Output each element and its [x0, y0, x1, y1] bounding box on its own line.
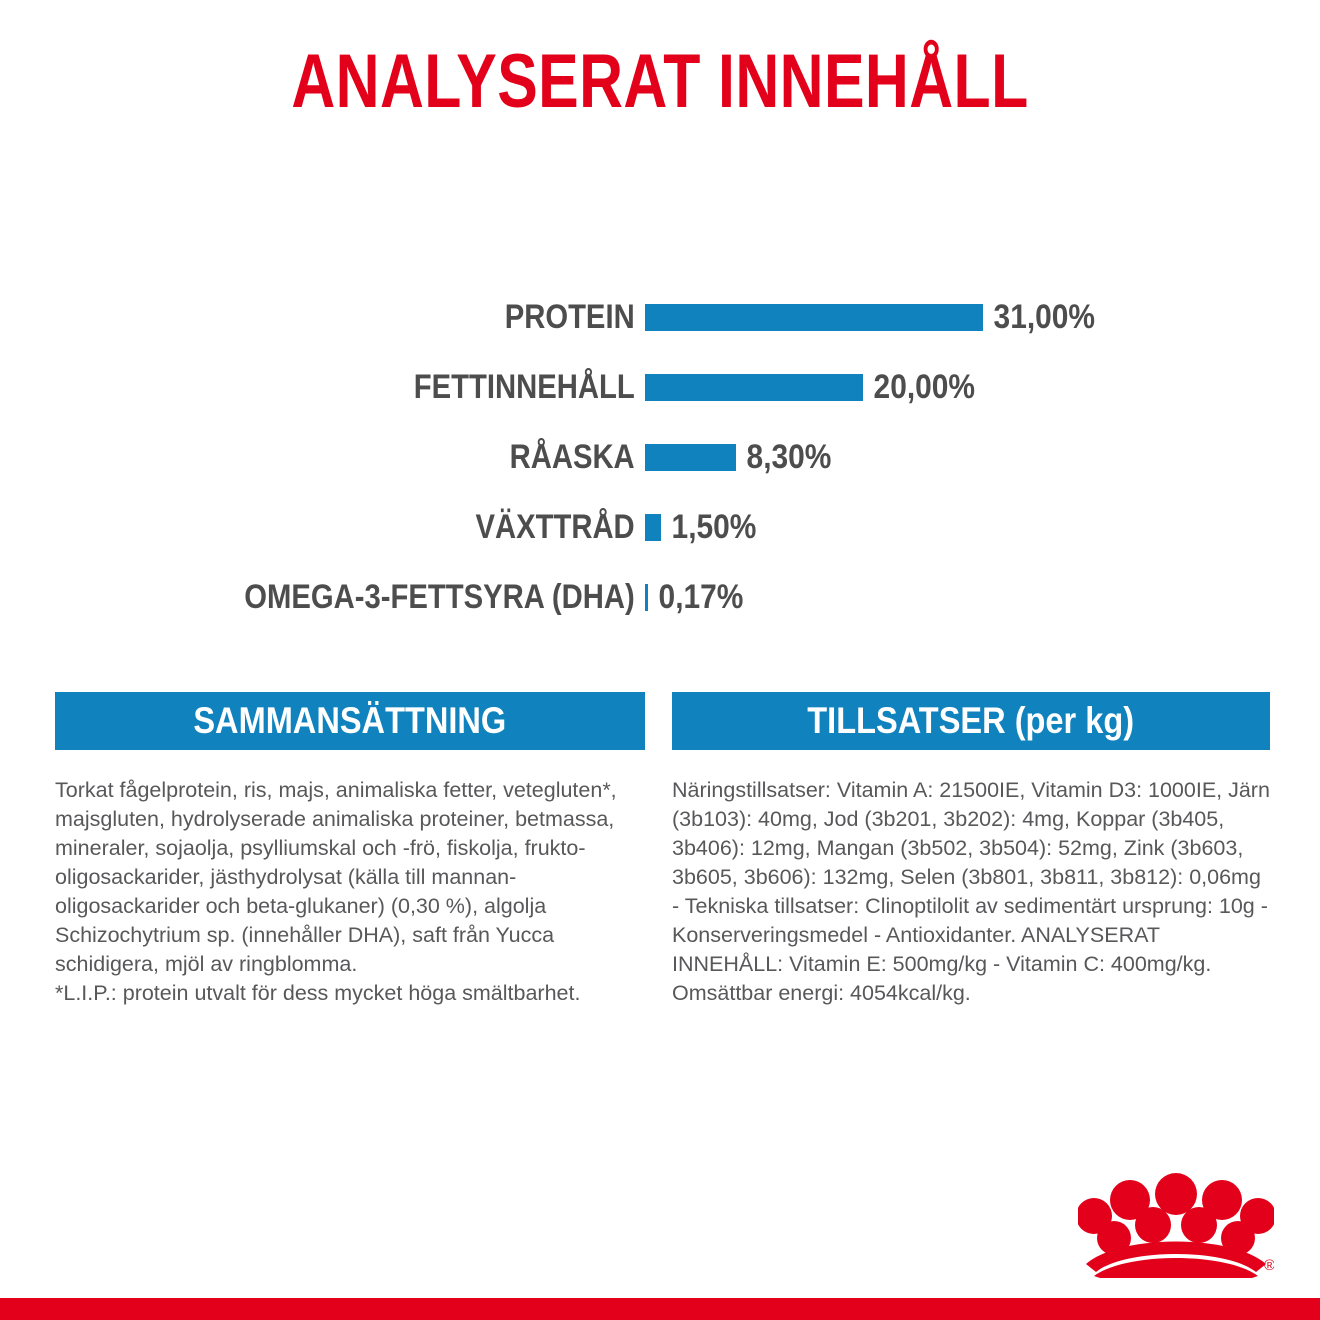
composition-panel-header: SAMMANSÄTTNING	[55, 692, 645, 750]
composition-text: Torkat fågelprotein, ris, majs, animalis…	[55, 776, 645, 979]
chart-bar-wrap: 1,50%	[645, 509, 1320, 545]
chart-row-label: VÄXTTRÅD	[90, 509, 645, 545]
composition-panel: SAMMANSÄTTNING Torkat fågelprotein, ris,…	[55, 692, 645, 1008]
chart-value-label: 20,00%	[863, 369, 975, 405]
additives-text: Näringstillsatser: Vitamin A: 21500IE, V…	[672, 776, 1270, 1008]
registered-trademark-mark: ®	[1264, 1257, 1274, 1274]
composition-panel-body: Torkat fågelprotein, ris, majs, animalis…	[55, 750, 645, 1008]
additives-panel: TILLSATSER (per kg) Näringstillsatser: V…	[672, 692, 1270, 1008]
nutrition-info-page: ANALYSERAT INNEHÅLL PROTEIN31,00%FETTINN…	[0, 0, 1320, 1320]
chart-bar-wrap: 20,00%	[645, 369, 1320, 405]
chart-row: RÅASKA8,30%	[0, 422, 1320, 492]
chart-value-label: 8,30%	[736, 439, 831, 475]
chart-row-label: OMEGA-3-FETTSYRA (DHA)	[90, 579, 645, 615]
chart-bar-wrap: 31,00%	[645, 299, 1320, 335]
composition-panel-header-label: SAMMANSÄTTNING	[194, 701, 507, 741]
chart-value-label: 0,17%	[648, 579, 743, 615]
chart-value-label: 31,00%	[983, 299, 1095, 335]
chart-row-label: FETTINNEHÅLL	[90, 369, 645, 405]
chart-value-label: 1,50%	[661, 509, 756, 545]
page-title: ANALYSERAT INNEHÅLL	[132, 40, 1188, 124]
composition-footnote: *L.I.P.: protein utvalt för dess mycket …	[55, 979, 645, 1008]
royal-canin-crown-logo: ®	[1078, 1172, 1274, 1278]
chart-row: PROTEIN31,00%	[0, 282, 1320, 352]
chart-bar-wrap: 0,17%	[645, 579, 1320, 615]
chart-bar-wrap: 8,30%	[645, 439, 1320, 475]
chart-row: FETTINNEHÅLL20,00%	[0, 352, 1320, 422]
additives-panel-header-label: TILLSATSER (per kg)	[808, 701, 1135, 741]
chart-bar	[645, 374, 863, 401]
chart-bar	[645, 514, 661, 541]
chart-row: VÄXTTRÅD1,50%	[0, 492, 1320, 562]
bottom-red-strip	[0, 1298, 1320, 1320]
chart-row-label: PROTEIN	[90, 299, 645, 335]
chart-row: OMEGA-3-FETTSYRA (DHA)0,17%	[0, 562, 1320, 632]
chart-row-label: RÅASKA	[90, 439, 645, 475]
additives-panel-body: Näringstillsatser: Vitamin A: 21500IE, V…	[672, 750, 1270, 1008]
additives-panel-header: TILLSATSER (per kg)	[672, 692, 1270, 750]
analysed-constituents-chart: PROTEIN31,00%FETTINNEHÅLL20,00%RÅASKA8,3…	[0, 282, 1320, 632]
chart-bar	[645, 444, 736, 471]
chart-bar	[645, 304, 983, 331]
